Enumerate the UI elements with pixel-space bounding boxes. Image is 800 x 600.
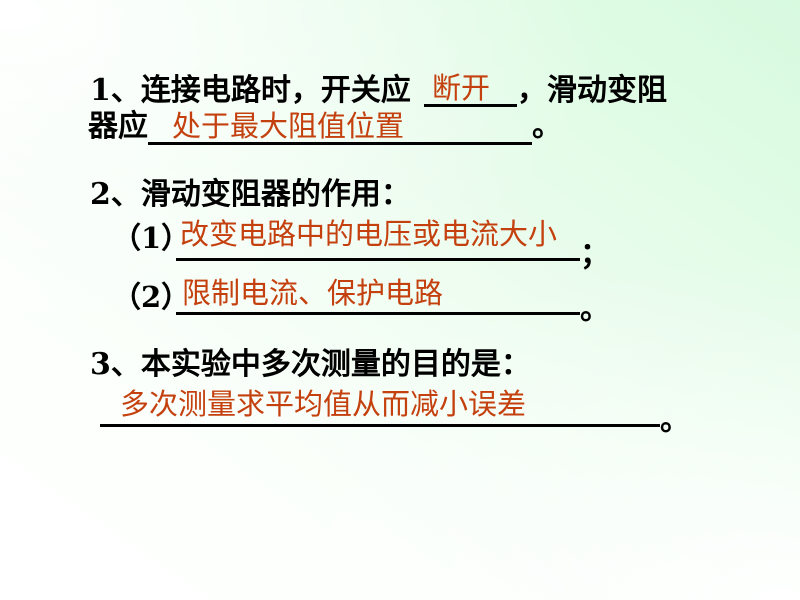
question-1-line-2-terminator: 。 [532, 112, 562, 142]
question-1-number: 1、 [90, 73, 141, 108]
question-3-answer[interactable]: 多次测量求平均值从而减小误差 [120, 390, 526, 419]
question-2-subitem-2-terminator: 。 [580, 295, 610, 325]
question-3-number: 3、 [90, 347, 141, 382]
question-1-line-1-suffix: ，滑动变阻 [517, 76, 667, 106]
slide-canvas: 1、连接电路时，开关应 断开 ，滑动变阻 器应 处于最大阻值位置 。 2、滑动变… [0, 0, 800, 600]
question-2-stem: 2、滑动变阻器的作用： [90, 180, 411, 210]
question-1-line-2-prefix: 器应 [88, 112, 148, 142]
question-1-blank-1-answer[interactable]: 断开 [432, 74, 490, 103]
question-2-subitem-1-answer[interactable]: 改变电路中的电压或电流大小 [180, 220, 557, 249]
question-2-number: 2、 [90, 177, 141, 212]
question-2-subitem-1-label: （1） [112, 224, 190, 253]
question-2-stem-text: 滑动变阻器的作用： [141, 177, 411, 212]
question-3-terminator: 。 [660, 406, 690, 436]
question-2-subitem-2-label: （2） [112, 283, 190, 312]
question-3-stem: 3、本实验中多次测量的目的是： [90, 350, 531, 380]
question-1-blank-2-answer[interactable]: 处于最大阻值位置 [172, 112, 404, 141]
question-1-line-1-text: 连接电路时，开关应 [141, 73, 411, 108]
question-3-stem-text: 本实验中多次测量的目的是： [141, 347, 531, 382]
question-1-blank-2-rule[interactable] [148, 142, 532, 145]
question-2-subitem-2-rule[interactable] [176, 312, 580, 315]
question-2-subitem-2-answer[interactable]: 限制电流、保护电路 [182, 279, 443, 308]
question-1-line-1-prefix: 1、连接电路时，开关应 [90, 76, 411, 106]
question-3-rule[interactable] [100, 424, 660, 427]
question-2-subitem-1-terminator: ； [580, 240, 610, 270]
question-2-subitem-1-rule[interactable] [176, 258, 580, 261]
question-1-blank-1-rule[interactable] [424, 104, 517, 107]
